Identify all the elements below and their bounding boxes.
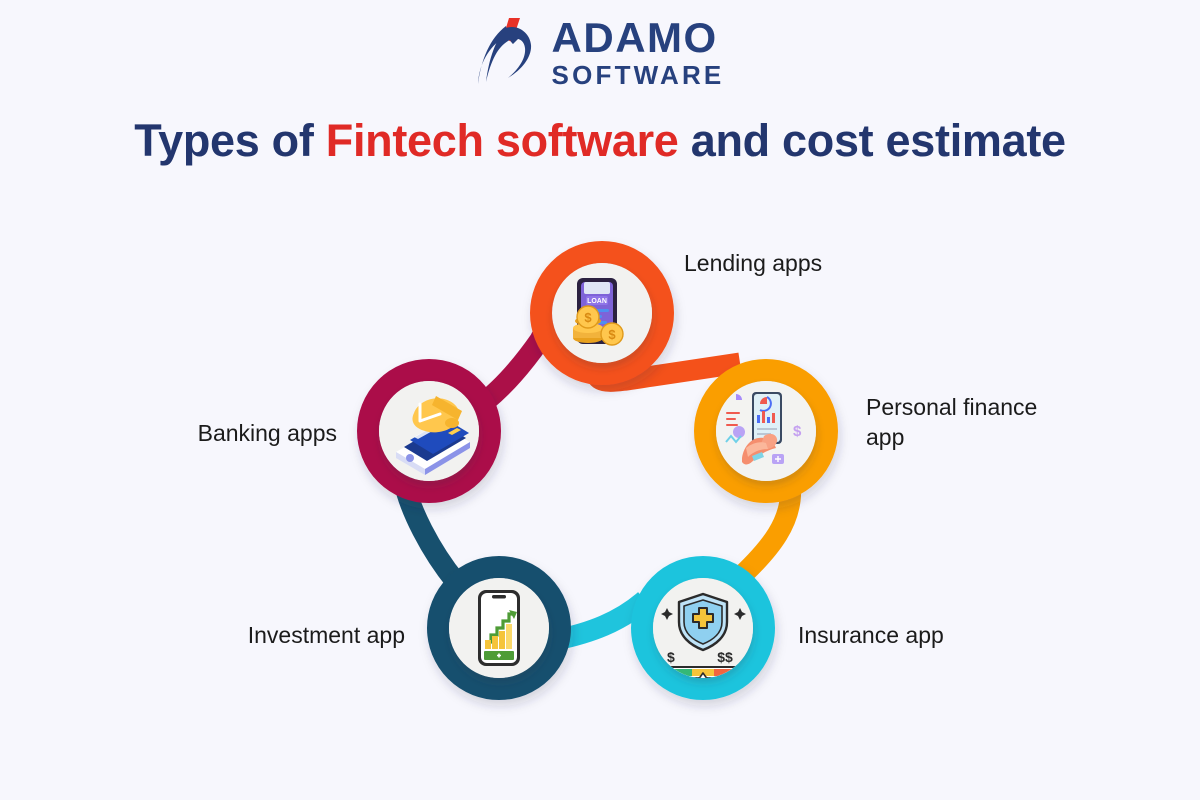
fintech-types-diagram: LOAN $ $ (0, 190, 1200, 750)
node-personal-finance[interactable]: $ (705, 370, 827, 492)
brand-name: ADAMO (552, 17, 725, 59)
svg-text:$: $ (608, 327, 616, 342)
title-part-after: and cost estimate (679, 115, 1066, 166)
label-insurance-app: Insurance app (798, 620, 944, 650)
node-insurance[interactable]: $ $$ (642, 567, 764, 689)
phone-growth-chart-icon (478, 590, 520, 666)
brand-subtitle: SOFTWARE (552, 62, 725, 88)
node-investment[interactable] (438, 567, 560, 689)
node-banking[interactable] (368, 370, 490, 492)
label-investment-app: Investment app (0, 620, 405, 650)
title-highlight: Fintech software (326, 115, 679, 166)
page-title: Types of Fintech software and cost estim… (0, 115, 1200, 167)
svg-text:LOAN: LOAN (587, 298, 607, 305)
brand-logo: ADAMO SOFTWARE (0, 16, 1200, 88)
title-part-before: Types of (134, 115, 326, 166)
svg-text:$$: $$ (717, 649, 733, 665)
svg-text:$: $ (793, 423, 802, 440)
svg-text:$: $ (667, 649, 675, 665)
label-banking-apps: Banking apps (0, 418, 337, 448)
adamo-swoosh-logo-icon (476, 16, 538, 88)
svg-text:$: $ (584, 310, 592, 325)
node-lending[interactable]: LOAN $ $ (541, 252, 663, 374)
label-personal-finance-app: Personal finance app (866, 392, 1096, 453)
label-lending-apps: Lending apps (684, 248, 822, 278)
loan-phone-coins-icon: LOAN $ $ (573, 278, 623, 345)
